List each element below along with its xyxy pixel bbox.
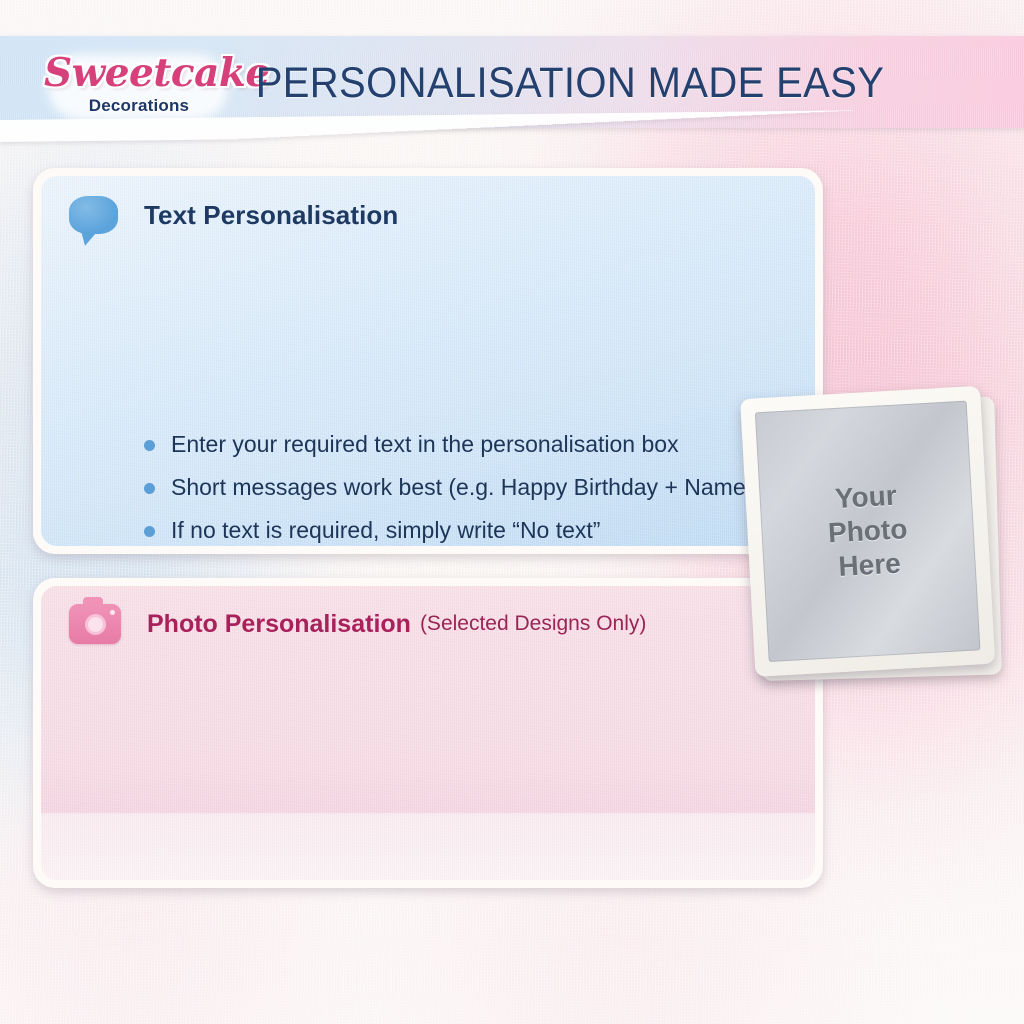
- logo-script-text: Sweetcake: [44, 50, 234, 96]
- list-item: Short messages work best (e.g. Happy Bir…: [141, 466, 753, 509]
- camera-icon: [69, 604, 121, 644]
- list-item-label: Short messages work best (e.g. Happy Bir…: [171, 474, 753, 500]
- logo-subtitle-text: Decorations: [44, 96, 234, 116]
- polaroid-line-1: Your: [834, 479, 898, 516]
- bullet-dot-icon: [144, 526, 155, 537]
- bullet-dot-icon: [144, 440, 155, 451]
- photo-section-heading: Photo Personalisation: [147, 610, 411, 639]
- page-title: PERSONALISATION MADE EASY: [263, 58, 877, 108]
- text-personalisation-card: Text Personalisation Enter your required…: [33, 168, 823, 554]
- brand-logo: Sweetcake Decorations: [44, 50, 234, 128]
- list-item: Enter your required text in the personal…: [141, 423, 753, 466]
- camera-lens-icon: [85, 614, 106, 635]
- photo-personalisation-card: Photo Personalisation (Selected Designs …: [33, 578, 823, 888]
- list-item-label: If no text is required, simply write “No…: [171, 517, 600, 543]
- poster-canvas: Sweetcake Decorations PERSONALISATION MA…: [0, 0, 1024, 1024]
- polaroid-line-2: Photo: [827, 512, 908, 550]
- photo-section-header: Photo Personalisation (Selected Designs …: [69, 604, 646, 644]
- camera-flash-icon: [110, 610, 115, 615]
- polaroid-line-3: Here: [838, 547, 902, 584]
- photo-section-heading-note: (Selected Designs Only): [420, 612, 646, 636]
- text-section-heading: Text Personalisation: [144, 200, 398, 231]
- text-section-header: Text Personalisation: [69, 196, 398, 234]
- list-item-label: Enter your required text in the personal…: [171, 431, 679, 457]
- list-item: If no text is required, simply write “No…: [141, 509, 753, 546]
- photo-placeholder-polaroid: Your Photo Here: [740, 385, 1008, 689]
- bullet-dot-icon: [144, 483, 155, 494]
- text-instruction-list: Enter your required text in the personal…: [141, 423, 753, 546]
- photo-card-inner: Photo Personalisation (Selected Designs …: [41, 586, 815, 880]
- text-card-inner: Text Personalisation Enter your required…: [41, 176, 815, 546]
- polaroid-front-sheet: Your Photo Here: [740, 386, 995, 677]
- speech-bubble-icon: [69, 196, 118, 234]
- polaroid-photo-area: Your Photo Here: [755, 401, 981, 662]
